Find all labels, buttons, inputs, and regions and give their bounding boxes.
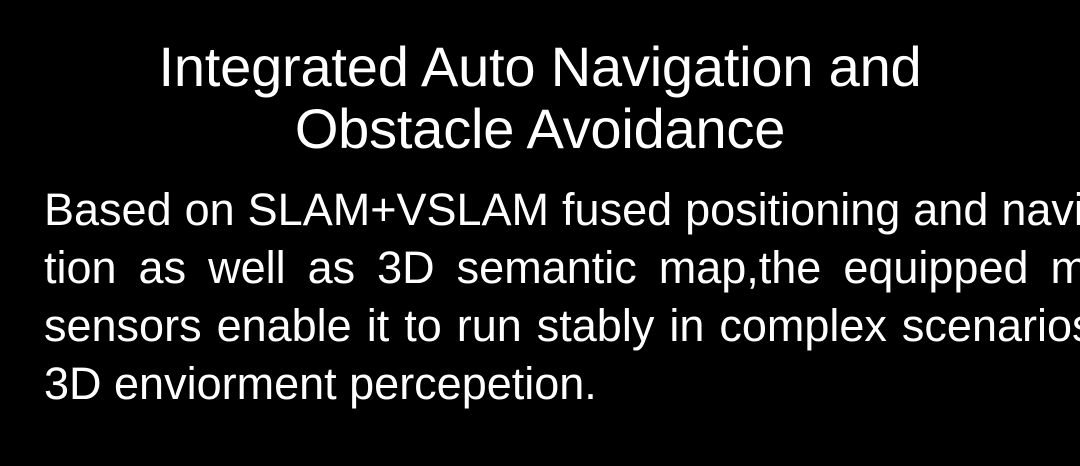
body-line-1: Based on SLAM+VSLAM fused positioning an… bbox=[44, 181, 1037, 239]
slide-canvas: Integrated Auto Navigation and Obstacle … bbox=[0, 0, 1080, 466]
body-line-3: sensors enable it to run stably in compl… bbox=[44, 297, 1037, 355]
body-line-4: 3D enviorment percepetion. bbox=[44, 355, 1037, 413]
page-title: Integrated Auto Navigation and Obstacle … bbox=[0, 36, 1080, 160]
body-line-2: tion as well as 3D semantic map,the equi… bbox=[44, 239, 1037, 297]
body-paragraph: Based on SLAM+VSLAM fused positioning an… bbox=[44, 181, 1037, 413]
title-line-1: Integrated Auto Navigation and bbox=[0, 36, 1080, 98]
title-line-2: Obstacle Avoidance bbox=[0, 98, 1080, 160]
